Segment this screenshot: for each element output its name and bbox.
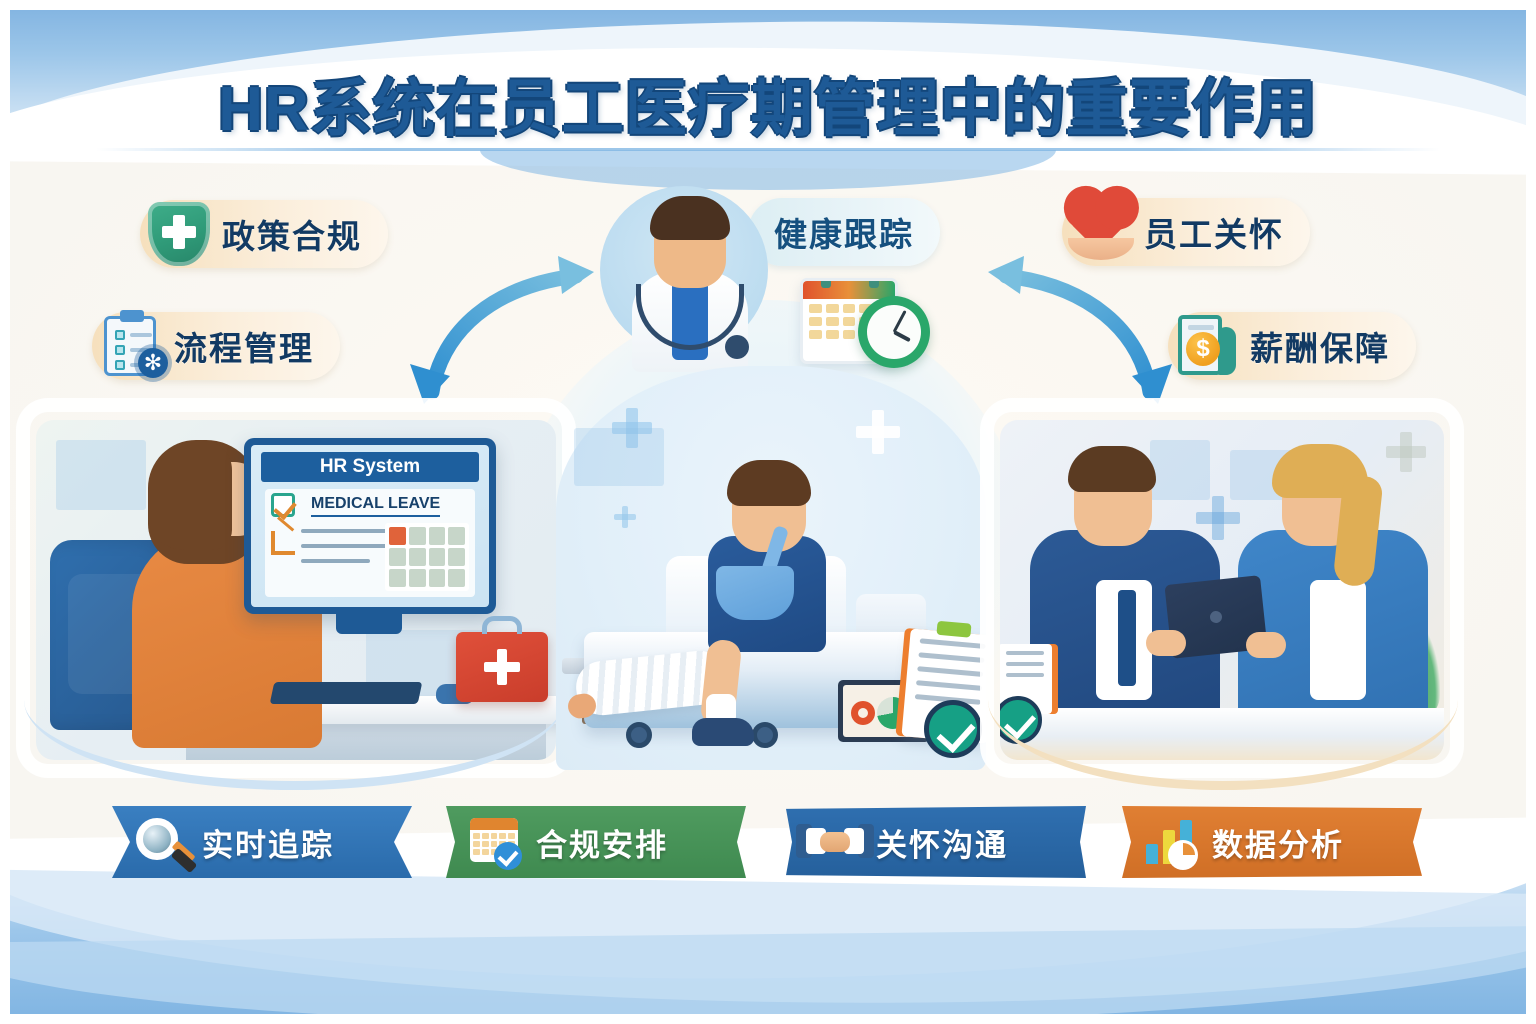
ribbon-real-time-tracking[interactable]: 实时追踪 (112, 806, 412, 878)
badge-policy-compliance[interactable]: 政策合规 (140, 200, 388, 268)
bar-chart-pie-icon (1140, 814, 1202, 870)
patient-head (732, 470, 806, 552)
scene-injured-employee (556, 366, 986, 770)
ribbon-data-analytics[interactable]: 数据分析 (1122, 806, 1422, 878)
screen-header-title: HR System (261, 452, 479, 482)
clock-icon (858, 296, 930, 368)
screen-subtitle: MEDICAL LEAVE (311, 495, 440, 517)
infographic-canvas: HR系统在员工医疗期管理中的重要作用 政策合规 流程管理 健康跟踪 员工关怀 (0, 0, 1536, 1024)
handshake-icon (804, 814, 866, 870)
heart-in-hand-icon (1062, 198, 1140, 266)
title-block: HR系统在员工医疗期管理中的重要作用 (0, 58, 1536, 148)
ribbon-care-label: 关怀沟通 (876, 820, 1008, 865)
money-document-icon: $ (1168, 312, 1246, 380)
badge-salary-guarantee[interactable]: $ 薪酬保障 (1168, 312, 1416, 380)
red-cross-icon (484, 649, 520, 685)
ribbon-compliant-scheduling[interactable]: 合规安排 (446, 806, 746, 878)
bed-wheel (626, 722, 652, 748)
page-title: HR系统在员工医疗期管理中的重要作用 (218, 58, 1318, 148)
ribbon-comply-label: 合规安排 (536, 820, 668, 865)
screen-trend-arrow-icon (271, 531, 295, 555)
badge-health-label: 健康跟踪 (774, 208, 914, 256)
ribbon-care-communication[interactable]: 关怀沟通 (786, 806, 1086, 878)
clipboard-gear-icon (92, 312, 170, 380)
employee-blouse (1310, 580, 1366, 700)
ribbon-data-label: 数据分析 (1212, 820, 1344, 865)
decor-cross-icon (856, 410, 900, 454)
badge-policy-label: 政策合规 (222, 210, 362, 258)
screen-checkbox-icon (271, 493, 295, 517)
desktop-monitor[interactable]: HR System MEDICAL LEAVE (244, 438, 496, 614)
shield-cross-icon (140, 200, 218, 268)
hand (1246, 632, 1286, 658)
first-aid-kit (456, 632, 548, 702)
monitor-screen: HR System MEDICAL LEAVE (251, 445, 489, 607)
donut-chart-icon (851, 701, 875, 725)
badge-health-tracking[interactable]: 健康跟踪 (748, 198, 940, 266)
badge-process-management[interactable]: 流程管理 (92, 312, 340, 380)
doctor-head (654, 206, 726, 288)
monitor-stand (336, 614, 402, 634)
screen-content-card: MEDICAL LEAVE (265, 489, 475, 597)
decor-cross-icon (1196, 496, 1240, 540)
ribbon-track-label: 实时追踪 (202, 820, 334, 865)
badge-salary-label: 薪酬保障 (1250, 322, 1390, 370)
hr-manager-head (1074, 458, 1152, 546)
decor-cross-icon (1386, 432, 1426, 472)
screen-calendar-grid (385, 523, 469, 591)
calendar-check-icon (464, 814, 526, 870)
badge-care-label: 员工关怀 (1144, 208, 1284, 256)
arm-sling (716, 566, 794, 620)
magnifier-icon (130, 814, 192, 870)
approved-check-icon (924, 700, 982, 758)
patient-shoe (692, 718, 754, 746)
badge-employee-care[interactable]: 员工关怀 (1062, 198, 1310, 266)
employee-head (1282, 458, 1360, 546)
decor-cross-icon (614, 506, 636, 528)
bed-wheel (752, 722, 778, 748)
badge-process-label: 流程管理 (174, 322, 314, 370)
hr-manager-tie (1118, 590, 1136, 686)
hand (1146, 630, 1186, 656)
